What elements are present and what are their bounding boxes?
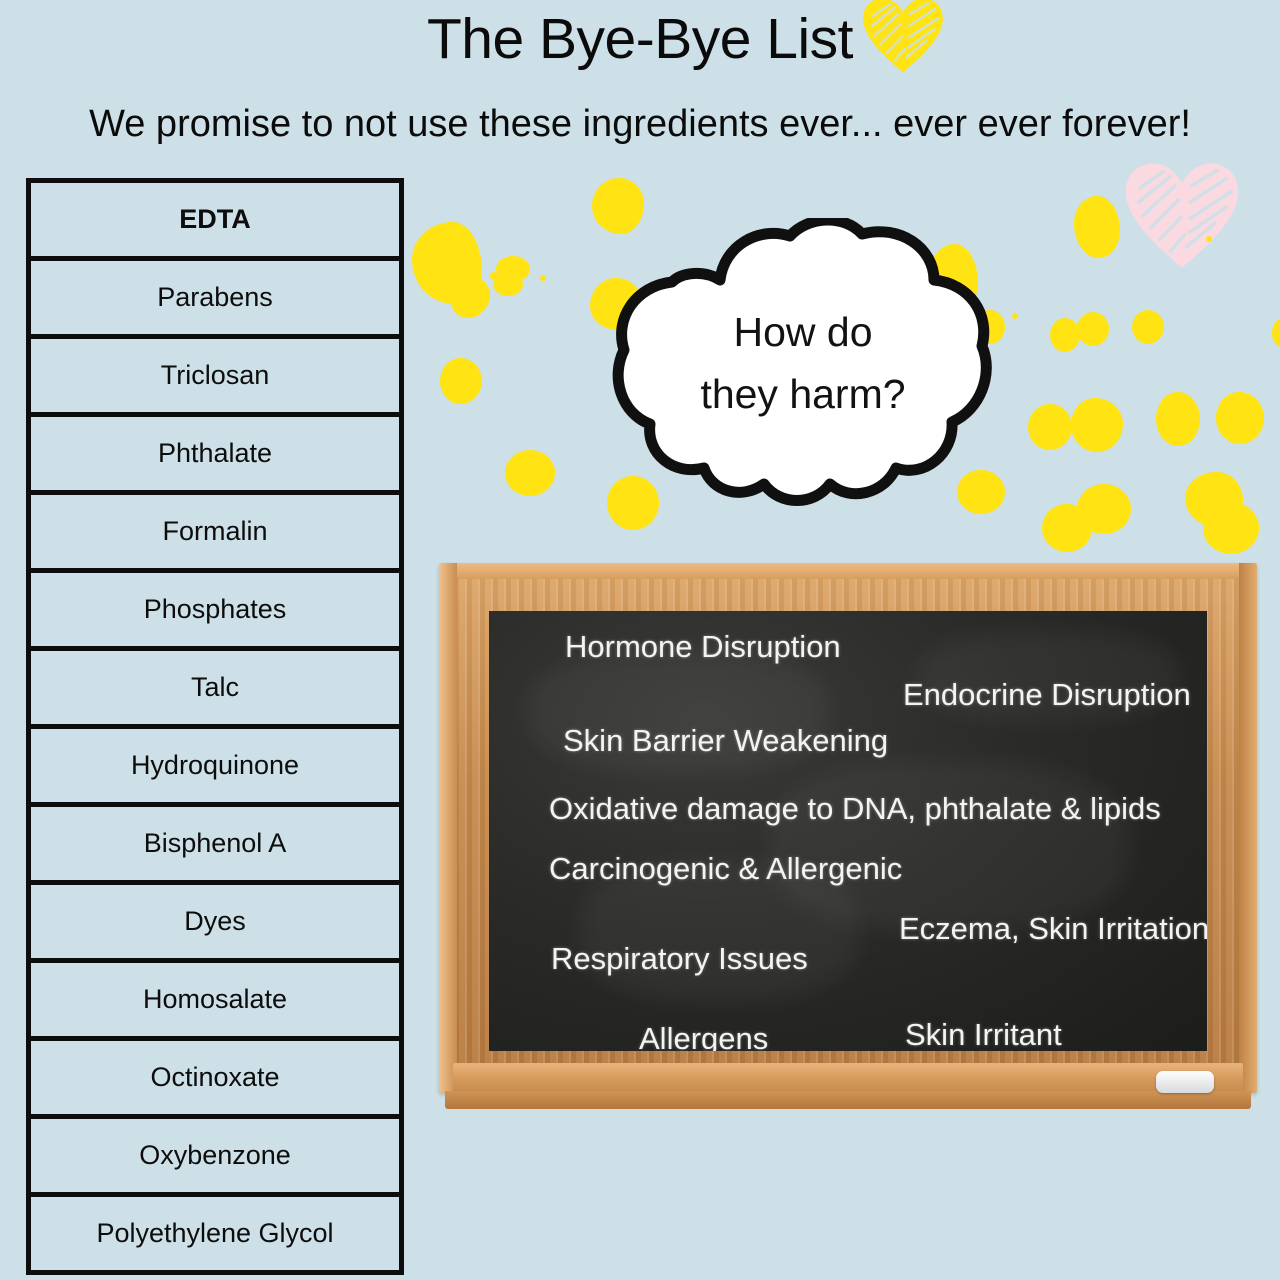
decorative-dot bbox=[1042, 504, 1092, 552]
decorative-dot bbox=[1071, 398, 1123, 452]
thought-bubble bbox=[612, 218, 994, 508]
ingredient-label: Parabens bbox=[157, 282, 273, 313]
ingredient-label: Formalin bbox=[162, 516, 267, 547]
yellow-scribble-heart-icon bbox=[861, 0, 945, 74]
ingredient-row: Talc bbox=[31, 651, 399, 729]
ingredient-label: Hydroquinone bbox=[131, 750, 299, 781]
chalkboard: Hormone DisruptionEndocrine DisruptionSk… bbox=[439, 563, 1257, 1141]
ingredient-row: Phosphates bbox=[31, 573, 399, 651]
ingredient-row: Parabens bbox=[31, 261, 399, 339]
ingredient-row: EDTA bbox=[31, 183, 399, 261]
infographic-canvas: The Bye-Bye List We promise bbox=[0, 0, 1280, 1280]
decorative-dot bbox=[1077, 312, 1109, 346]
decorative-dot bbox=[493, 272, 523, 296]
chalkboard-text-line: Skin Irritant bbox=[905, 1017, 1062, 1051]
chalkboard-text-line: Endocrine Disruption bbox=[903, 677, 1191, 713]
frame-right-bevel bbox=[1239, 563, 1257, 1093]
ingredient-label: Homosalate bbox=[143, 984, 287, 1015]
ingredient-row: Oxybenzone bbox=[31, 1119, 399, 1197]
decorative-dot bbox=[540, 275, 546, 281]
page-title: The Bye-Bye List bbox=[0, 6, 1280, 72]
ingredient-label: Oxybenzone bbox=[139, 1140, 291, 1171]
decorative-dot bbox=[1272, 318, 1280, 348]
ingredient-row: Hydroquinone bbox=[31, 729, 399, 807]
page-title-text: The Bye-Bye List bbox=[427, 7, 853, 71]
ingredient-row: Octinoxate bbox=[31, 1041, 399, 1119]
chalkboard-text-line: Oxidative damage to DNA, phthalate & lip… bbox=[549, 791, 1161, 827]
ingredient-label: Triclosan bbox=[161, 360, 270, 391]
frame-top-highlight bbox=[439, 563, 1257, 579]
chalkboard-text-line: Respiratory Issues bbox=[551, 941, 808, 977]
decorative-dot bbox=[1028, 404, 1072, 450]
decorative-dot bbox=[1216, 392, 1264, 444]
chalk-stick-icon bbox=[1156, 1071, 1214, 1093]
chalkboard-text-line: Allergens bbox=[639, 1021, 768, 1051]
ingredient-row: Phthalate bbox=[31, 417, 399, 495]
ingredient-label: Polyethylene Glycol bbox=[96, 1218, 333, 1249]
ingredient-label: Dyes bbox=[184, 906, 246, 937]
decorative-dot bbox=[1203, 502, 1259, 554]
frame-left-bevel bbox=[439, 563, 457, 1093]
ingredient-row: Dyes bbox=[31, 885, 399, 963]
chalkboard-text-line: Eczema, Skin Irritation bbox=[899, 911, 1207, 947]
decorative-dot bbox=[505, 450, 555, 496]
ingredient-label: Bisphenol A bbox=[144, 828, 287, 859]
chalkboard-text-line: Skin Barrier Weakening bbox=[563, 723, 888, 759]
decorative-dot bbox=[1206, 236, 1212, 242]
ingredient-label: Talc bbox=[191, 672, 239, 703]
ingredient-label: EDTA bbox=[179, 204, 251, 235]
decorative-dot bbox=[450, 276, 490, 318]
decorative-dot bbox=[1132, 310, 1164, 344]
ingredient-label: Phthalate bbox=[158, 438, 272, 469]
ingredient-row: Formalin bbox=[31, 495, 399, 573]
ingredient-label: Octinoxate bbox=[150, 1062, 279, 1093]
chalkboard-surface: Hormone DisruptionEndocrine DisruptionSk… bbox=[489, 611, 1207, 1051]
ingredient-row: Bisphenol A bbox=[31, 807, 399, 885]
ingredient-row: Homosalate bbox=[31, 963, 399, 1041]
page-subtitle: We promise to not use these ingredients … bbox=[0, 103, 1280, 146]
ingredient-label: Phosphates bbox=[144, 594, 287, 625]
decorative-dot bbox=[1156, 392, 1200, 446]
pink-scribble-heart-icon bbox=[1122, 160, 1242, 270]
chalkboard-ledge-front bbox=[445, 1091, 1251, 1109]
ingredient-list-table: EDTAParabensTriclosanPhthalateFormalinPh… bbox=[26, 178, 404, 1275]
chalkboard-text-line: Carcinogenic & Allergenic bbox=[549, 851, 902, 887]
decorative-dot bbox=[1074, 196, 1120, 258]
decorative-dot bbox=[1050, 318, 1080, 352]
decorative-dot bbox=[1012, 313, 1018, 319]
chalkboard-frame: Hormone DisruptionEndocrine DisruptionSk… bbox=[439, 563, 1257, 1093]
ingredient-row: Triclosan bbox=[31, 339, 399, 417]
decorative-dot bbox=[440, 358, 482, 404]
ingredient-row: Polyethylene Glycol bbox=[31, 1197, 399, 1275]
chalkboard-text-line: Hormone Disruption bbox=[565, 629, 841, 665]
